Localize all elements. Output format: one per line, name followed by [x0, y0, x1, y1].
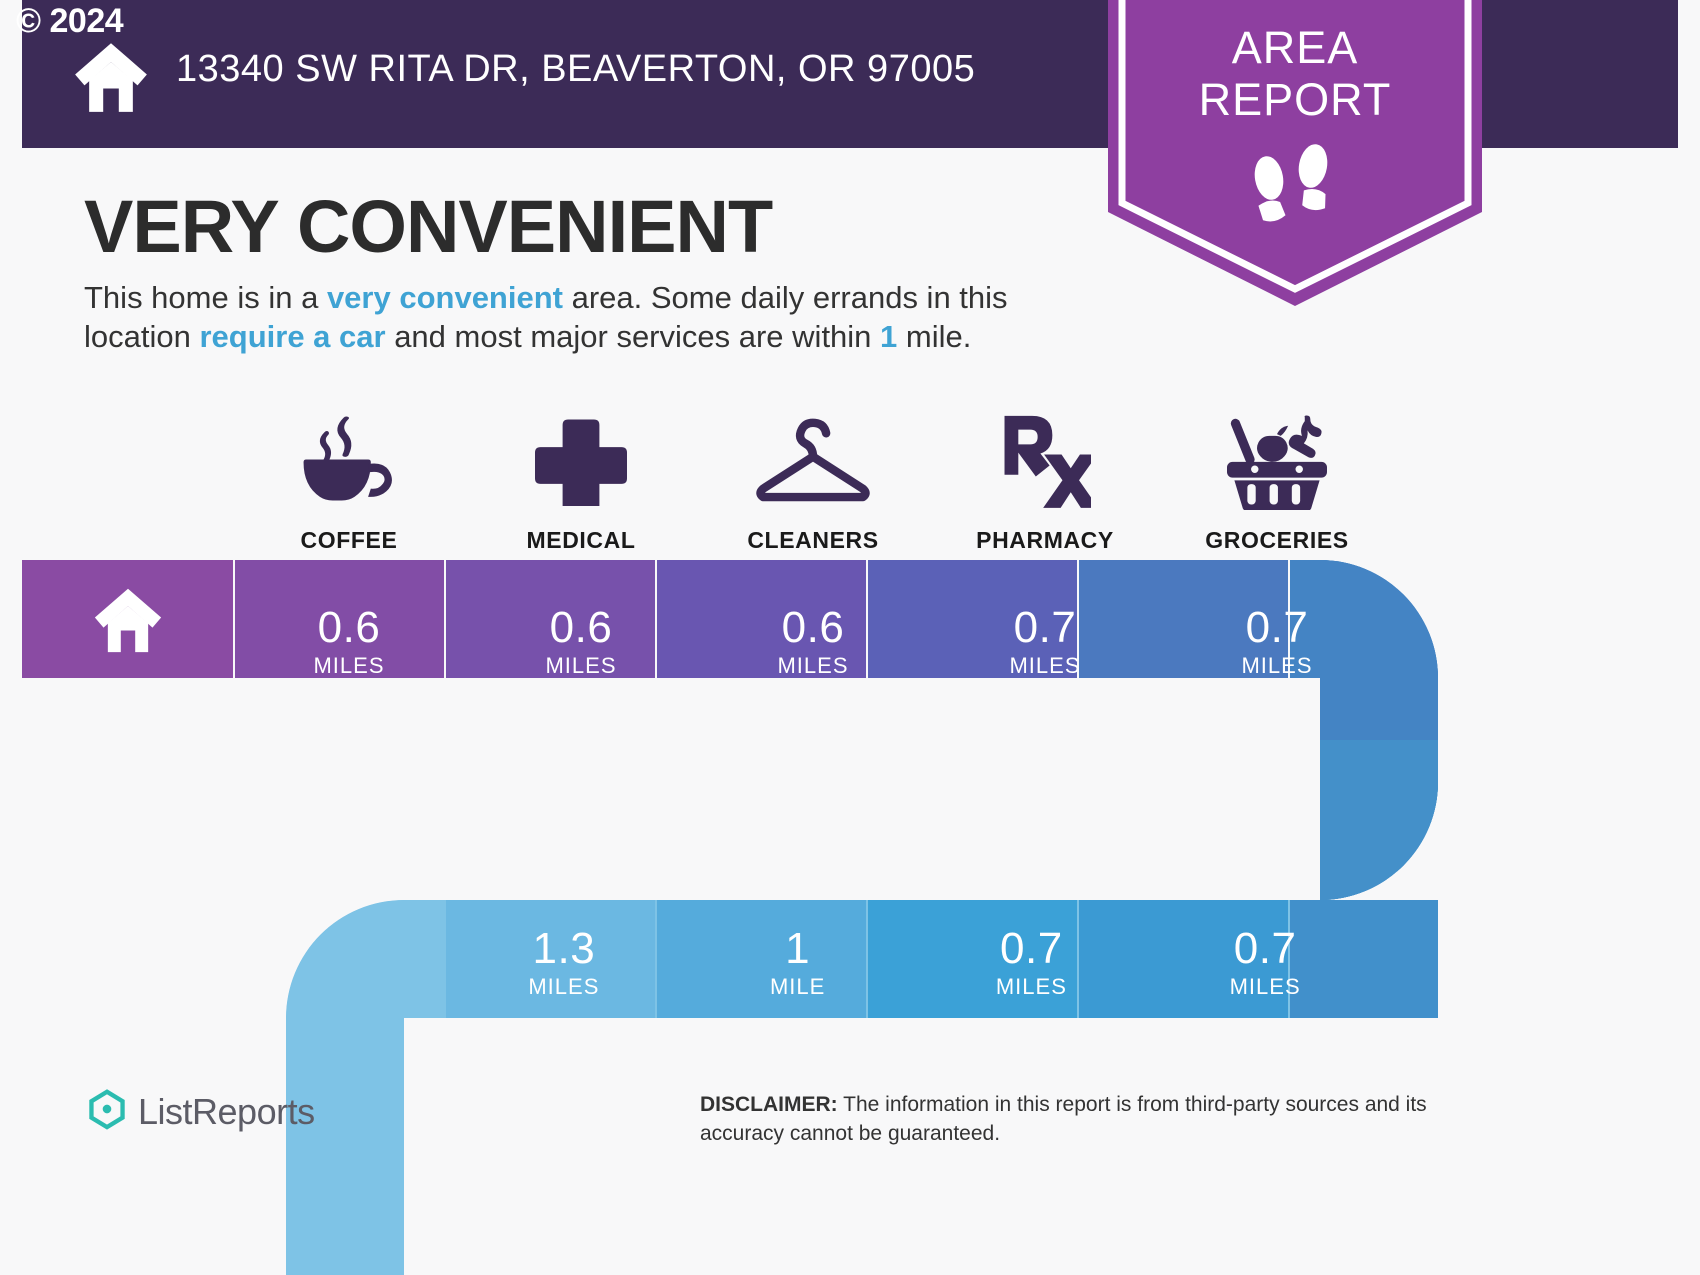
badge-title: AREA REPORT	[1108, 22, 1482, 126]
distance-value: 1	[785, 926, 810, 972]
amenity-medical: MEDICAL	[465, 405, 697, 554]
distance-values-row-2: 1.3 MILES 1 MILE 0.7 MILES 0.7 MILES	[447, 904, 1382, 1022]
amenity-label: MEDICAL	[527, 527, 636, 554]
desc-part-3: and most major services are within	[386, 319, 880, 354]
distance-cell: 0.6 MILES	[233, 583, 465, 701]
distance-value: 0.7	[1246, 605, 1309, 651]
distance-cell: 0.7 MILES	[1161, 583, 1393, 701]
home-icon	[72, 36, 150, 116]
distance-cell: 0.7 MILES	[915, 904, 1149, 1022]
disclaimer-label: DISCLAIMER:	[700, 1093, 838, 1116]
disclaimer: DISCLAIMER: The information in this repo…	[700, 1090, 1500, 1148]
distance-unit: MILES	[1009, 653, 1080, 679]
clothes-hanger-icon	[752, 405, 874, 515]
listreports-logo-text: ListReports	[138, 1091, 315, 1133]
amenity-coffee: COFFEE	[233, 405, 465, 554]
distance-unit: MILE	[770, 974, 825, 1000]
badge-line-2: REPORT	[1108, 74, 1482, 126]
medical-cross-icon	[535, 405, 627, 515]
amenity-cleaners: CLEANERS	[697, 405, 929, 554]
distance-unit: MILES	[1230, 974, 1301, 1000]
property-address: 13340 SW RITA DR, BEAVERTON, OR 97005	[176, 48, 975, 91]
home-chip	[22, 560, 233, 678]
distance-value: 0.6	[782, 605, 845, 651]
listreports-logo-icon	[88, 1088, 126, 1135]
distance-unit: MILES	[313, 653, 384, 679]
area-report-page: © 2024 13340 SW RITA DR, BEAVERTON, OR 9…	[0, 0, 1700, 1275]
desc-highlight-2: require a car	[199, 319, 385, 354]
distance-cell: 1 MILE	[681, 904, 915, 1022]
distance-unit: MILES	[1241, 653, 1312, 679]
page-title: VERY CONVENIENT	[84, 186, 772, 268]
badge-line-1: AREA	[1108, 22, 1482, 74]
distance-cell: 0.6 MILES	[465, 583, 697, 701]
distance-cell: 0.7 MILES	[929, 583, 1161, 701]
amenity-icons-row-1: COFFEE MEDICAL CLEANERS	[233, 405, 1393, 554]
distance-unit: MILES	[545, 653, 616, 679]
prescription-rx-icon	[999, 405, 1091, 515]
distance-unit: MILES	[777, 653, 848, 679]
distance-value: 0.7	[1234, 926, 1297, 972]
description-text: This home is in a very convenient area. …	[84, 278, 1104, 356]
desc-part-4: mile.	[897, 319, 971, 354]
desc-highlight-1: very convenient	[327, 280, 563, 315]
listreports-logo: ListReports	[88, 1088, 315, 1135]
distance-value: 0.7	[1000, 926, 1063, 972]
distance-unit: MILES	[996, 974, 1067, 1000]
amenity-label: GROCERIES	[1205, 527, 1348, 554]
amenity-pharmacy: PHARMACY	[929, 405, 1161, 554]
distance-cell: 0.6 MILES	[697, 583, 929, 701]
grocery-basket-icon	[1221, 405, 1333, 515]
distance-cell: 0.7 MILES	[1148, 904, 1382, 1022]
coffee-cup-icon	[299, 405, 399, 515]
amenity-label: CLEANERS	[747, 527, 878, 554]
amenity-groceries: GROCERIES	[1161, 405, 1393, 554]
desc-part-1: This home is in a	[84, 280, 327, 315]
amenity-label: PHARMACY	[976, 527, 1114, 554]
footprints-icon	[1245, 144, 1345, 230]
amenity-label: COFFEE	[301, 527, 398, 554]
area-report-badge: AREA REPORT	[1108, 0, 1482, 306]
distance-value: 0.6	[318, 605, 381, 651]
distance-value: 1.3	[533, 926, 596, 972]
distance-values-row-1: 0.6 MILES 0.6 MILES 0.6 MILES 0.7 MILES …	[233, 583, 1393, 701]
distance-value: 0.6	[550, 605, 613, 651]
distance-cell: 1.3 MILES	[447, 904, 681, 1022]
distance-unit: MILES	[528, 974, 599, 1000]
distance-value: 0.7	[1014, 605, 1077, 651]
copyright-label: © 2024	[16, 2, 123, 41]
desc-highlight-3: 1	[880, 319, 897, 354]
